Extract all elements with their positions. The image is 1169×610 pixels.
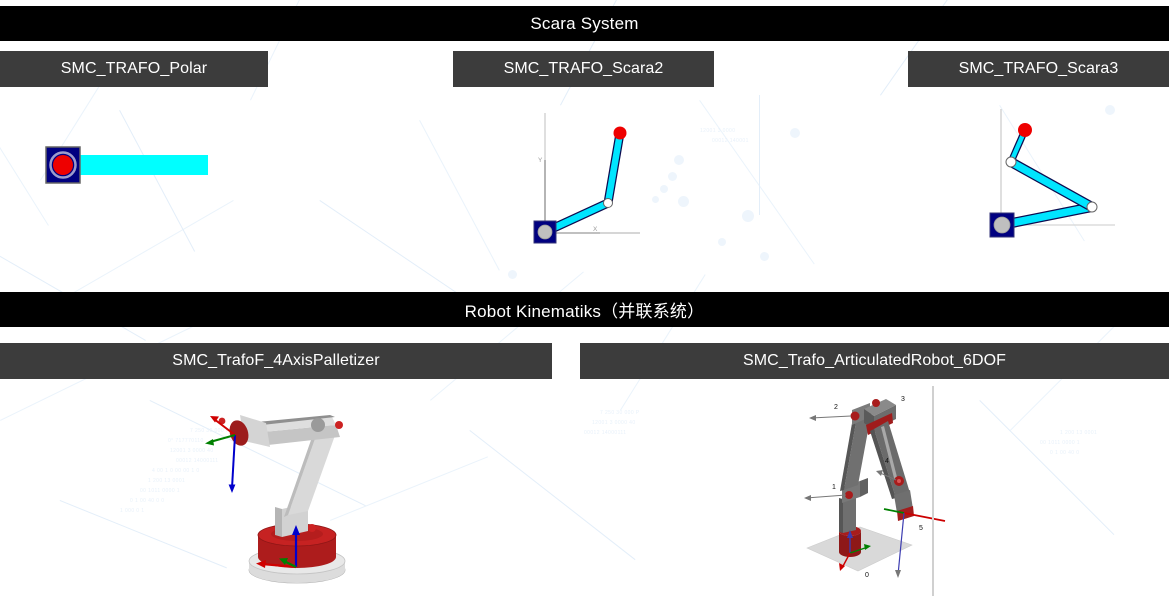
section-title: Scara System xyxy=(530,14,638,34)
articulated-axis-arrowhead-1 xyxy=(804,495,811,501)
palletizer-tool-axis-z xyxy=(232,435,235,488)
articulated-tool-axis-z-arrow xyxy=(895,570,901,578)
polar-hub xyxy=(53,155,73,175)
articulated-axis-arrow-1 xyxy=(806,495,846,498)
articulated-joint-marker-3 xyxy=(872,399,880,407)
scara3-tool-tip xyxy=(1018,123,1032,137)
module-label-text: SMC_Trafo_ArticulatedRobot_6DOF xyxy=(743,352,1006,370)
articulated-joint-marker-2 xyxy=(851,412,860,421)
section-title: Robot Kinematiks（并联系统） xyxy=(465,297,705,322)
module-label-scara2[interactable]: SMC_TRAFO_Scara2 xyxy=(453,51,714,87)
module-label-text: SMC_TRAFO_Scara3 xyxy=(959,60,1119,78)
section-header-robot-kinematiks: Robot Kinematiks（并联系统） xyxy=(0,292,1169,327)
module-label-text: SMC_TrafoF_4AxisPalletizer xyxy=(172,352,379,370)
articulated-axis-arrowhead-2 xyxy=(809,415,816,421)
scara3-joint-1 xyxy=(1087,202,1097,212)
app-root: 7 250 30 000 P 0° 717770110 12001 3 0000… xyxy=(0,0,1169,610)
scara3-link-2-core xyxy=(1011,162,1092,207)
articulated-lower-column-shade xyxy=(839,498,843,533)
module-label-polar[interactable]: SMC_TRAFO_Polar xyxy=(0,51,268,87)
palletizer-joint-marker-1 xyxy=(335,421,343,429)
scara2-axis-y-label: Y xyxy=(538,157,543,164)
section-header-scara-system: Scara System xyxy=(0,6,1169,41)
articulated-axis-arrowhead-4 xyxy=(876,470,883,476)
scara2-diagram: Y X xyxy=(500,105,670,255)
scara3-joint-2 xyxy=(1006,157,1016,167)
articulated-joint-label-3: 3 xyxy=(901,396,905,403)
articulated-joint-marker-1 xyxy=(845,491,853,499)
palletizer-tool-axis-y-arrow xyxy=(205,439,214,446)
module-label-text: SMC_TRAFO_Polar xyxy=(61,60,207,78)
scara2-tool-tip xyxy=(614,127,627,140)
articulated-j1-housing-side xyxy=(860,478,868,497)
scara3-diagram xyxy=(960,105,1140,255)
articulated-joint-label-2: 2 xyxy=(834,404,838,411)
palletizer-elbow-knuckle xyxy=(311,418,325,432)
articulated-joint-marker-4-inner xyxy=(897,479,901,483)
articulated-joint-label-5: 5 xyxy=(919,525,923,532)
polar-robot-diagram xyxy=(0,100,300,270)
module-label-text: SMC_TRAFO_Scara2 xyxy=(504,60,664,78)
scara2-axis-x-label: X xyxy=(593,226,598,233)
scara3-base-hub xyxy=(994,217,1010,233)
palletizer-tool-axis-z-arrow xyxy=(229,485,236,494)
articulated-robot-render: 1 2 3 4 5 0 xyxy=(780,385,965,600)
scara2-base-hub xyxy=(538,225,552,239)
articulated-axis-arrow-2 xyxy=(811,416,851,418)
scara2-elbow-joint xyxy=(604,199,613,208)
articulated-joint-label-0: 0 xyxy=(865,572,869,579)
scara3-link-1-core xyxy=(1002,207,1092,225)
articulated-joint-label-1: 1 xyxy=(832,484,836,491)
panel-divider xyxy=(932,386,934,596)
articulated-joint-label-4: 4 xyxy=(885,458,889,465)
module-label-articulated[interactable]: SMC_Trafo_ArticulatedRobot_6DOF xyxy=(580,343,1169,379)
palletizer-robot-render xyxy=(190,385,390,595)
module-label-scara3[interactable]: SMC_TRAFO_Scara3 xyxy=(908,51,1169,87)
palletizer-tool-axis-y xyxy=(210,435,235,442)
module-label-palletizer[interactable]: SMC_TrafoF_4AxisPalletizer xyxy=(0,343,552,379)
palletizer-column-shade xyxy=(275,507,282,537)
palletizer-joint-marker-2 xyxy=(308,524,316,532)
polar-arm xyxy=(72,155,208,175)
